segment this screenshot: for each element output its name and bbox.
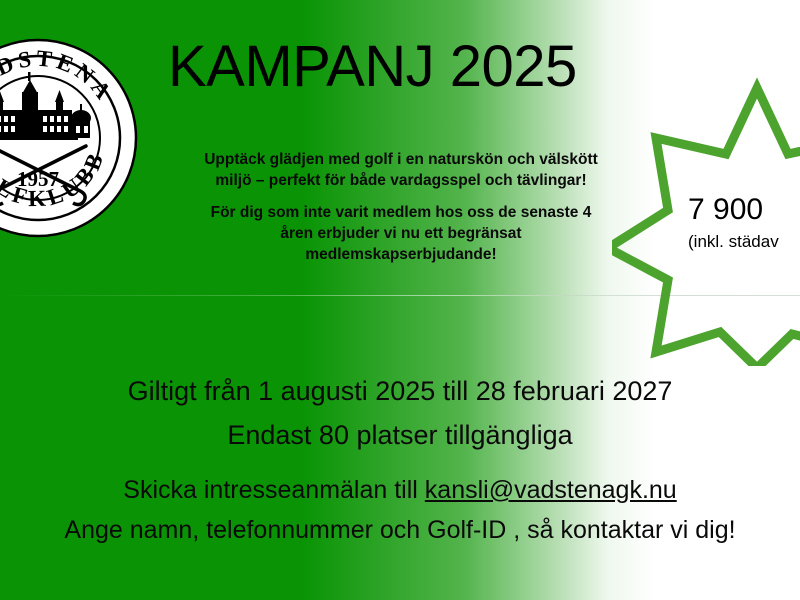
- price-amount: 7 900: [688, 194, 800, 226]
- slots-line: Endast 80 platser tillgängliga: [0, 420, 800, 451]
- intro-line: För dig som inte varit medlem hos oss de…: [170, 203, 632, 224]
- intro-line: medlemskapserbjudande!: [170, 245, 632, 266]
- club-logo: 1957 VADSTENA GOLFKLUBB: [0, 38, 138, 238]
- intro-line: åren erbjuder vi nu ett begränsat: [170, 224, 632, 245]
- contact-prefix: Skicka intresseanmälan till: [123, 476, 425, 504]
- intro-line: miljö – perfekt för både vardagsspel och…: [170, 171, 632, 192]
- intro-paragraph-2: För dig som inte varit medlem hos oss de…: [170, 203, 632, 265]
- page-title: KAMPANJ 2025: [168, 36, 577, 97]
- intro-paragraph-1: Upptäck glädjen med golf i en naturskön …: [170, 150, 632, 192]
- price-note: (inkl. städav: [688, 233, 800, 252]
- contact-line: Skicka intresseanmälan till kansli@vadst…: [0, 476, 800, 505]
- intro-line: Upptäck glädjen med golf i en naturskön …: [170, 150, 632, 171]
- campaign-poster: 1957 VADSTENA GOLFKLUBB KAMPANJ 2025 Upp…: [0, 0, 800, 600]
- validity-line: Giltigt från 1 augusti 2025 till 28 febr…: [0, 376, 800, 407]
- email-link[interactable]: kansli@vadstenagk.nu: [425, 476, 677, 504]
- price-block: 7 900 (inkl. städav: [688, 194, 800, 251]
- closing-line: Ange namn, telefonnummer och Golf-ID , s…: [0, 516, 800, 545]
